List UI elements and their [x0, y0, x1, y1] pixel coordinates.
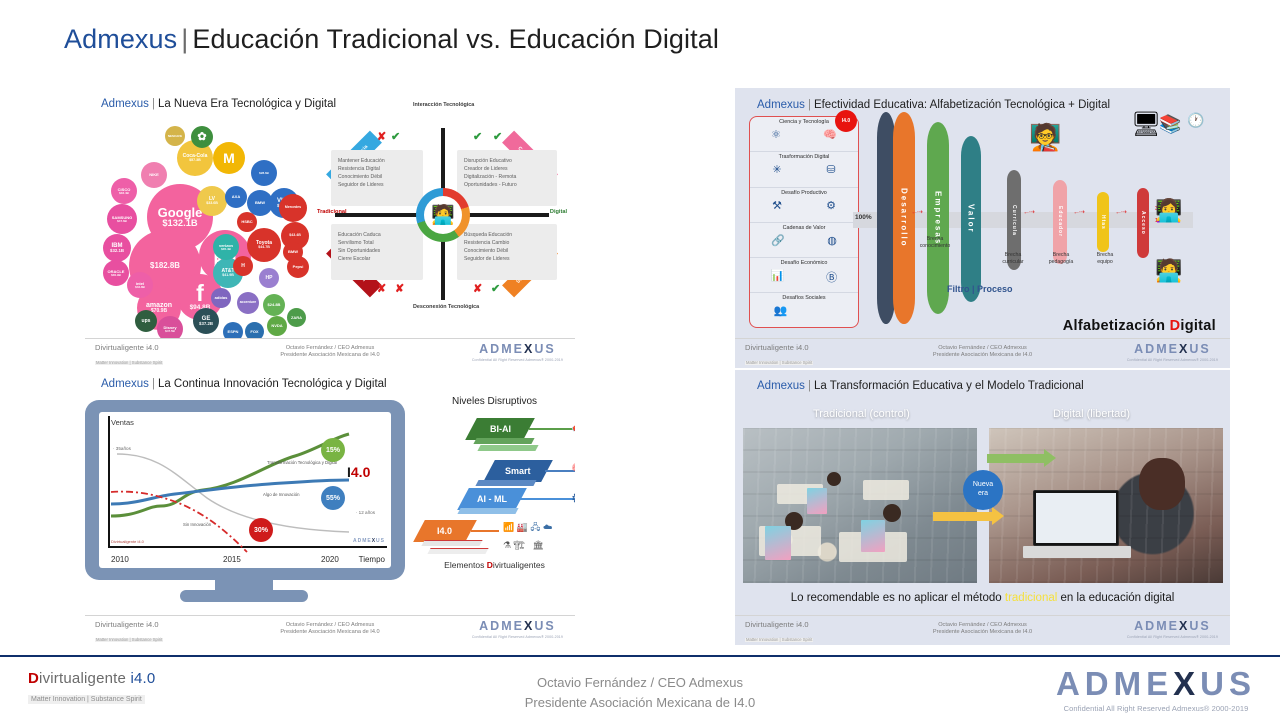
panel1-footer-dv-sub: Matter Innovation | Substance Spirit: [95, 361, 163, 365]
brand-bubble-cloud: Google$132.1B$182.8B▦$104.9Bf$94.8Bamazo…: [101, 126, 323, 341]
brand-bubble: NVDA: [267, 316, 287, 336]
brand-bubble: LV$33.6B: [197, 186, 227, 216]
panel2-footer-admexus-word: ADMEXUS: [472, 620, 563, 633]
brand-bubble: ZARA: [287, 308, 306, 327]
panel1-footer: Divirtualigente i4.0 Matter Innovation |…: [85, 338, 575, 368]
panel-efectividad-educativa[interactable]: Admexus|Efectividad Educativa: Alfabetiz…: [735, 88, 1230, 368]
iot-icons: 📶 🏭 🖧 ☁: [503, 520, 552, 536]
level-i40[interactable]: I4.0: [413, 520, 477, 542]
level-i40-shadow2: [427, 548, 488, 554]
gate-acceso[interactable]: Acceso: [1137, 188, 1149, 258]
page-title: Admexus|Educación Tradicional vs. Educac…: [64, 24, 719, 55]
cross-icon-br-1: ✘: [473, 284, 482, 295]
monitor-screen: Ventas · 35años · 12 años Transformación…: [99, 412, 391, 568]
competency-icon: ⛁: [826, 163, 835, 176]
panel4-footer-divirtualigente: Divirtualigente i4.0 Matter Innovation |…: [745, 621, 813, 645]
panel1-footer-center: Octavio Fernández / CEO Admexus Presiden…: [280, 345, 379, 359]
footer-center-line1: Octavio Fernández / CEO Admexus: [525, 673, 756, 693]
competency-label: Desafío Productivo: [750, 190, 858, 196]
student-seated-icon-1: 👩‍💻: [1155, 198, 1182, 224]
gap-equipo: Brecha equipo: [1079, 252, 1131, 266]
competency-icons: 👥: [750, 304, 858, 317]
level-bi-ai-connector: [529, 428, 575, 430]
competency-icon: ⚒: [772, 199, 782, 212]
funnel-valor[interactable]: Valor: [961, 136, 981, 302]
panel1-footer-line2: Presidente Asociación Mexicana de I4.0: [280, 352, 379, 359]
panel4-footer-admexus: ADMEXUS Confidential All Right Reserved …: [1127, 620, 1218, 639]
competency-label: Cadenas de Valor: [750, 225, 858, 231]
competency-icons: ✳⛁: [750, 163, 858, 176]
panel1-title: La Nueva Era Tecnológica y Digital: [158, 98, 336, 110]
book-2: [861, 520, 885, 552]
panel3-footer-admexus: ADMEXUS Confidential All Right Reserved …: [1127, 343, 1218, 362]
competency-label: Desafíos Sociales: [750, 295, 858, 301]
brand-bubble: NESCAFE: [165, 126, 185, 146]
ai-head-icon: 🧠: [571, 460, 575, 477]
panel3-footer-center: Octavio Fernández / CEO Admexus Presiden…: [933, 345, 1032, 359]
nueva-era-line2: era: [978, 490, 988, 499]
competency-icons: 🔗◍: [750, 234, 858, 247]
panel-innovacion-continua[interactable]: Admexus|La Continua Innovación Tecnológi…: [85, 368, 575, 645]
footer-dv-main: Divirtualigente i4.0: [28, 671, 155, 688]
panel2-footer-dv-main: Divirtualigente i4.0: [95, 621, 163, 629]
chart-i40-mark: I4.0: [347, 464, 370, 480]
competency-list-box: Ciencia y Tecnología⚛🧠Trasformación Digi…: [749, 116, 859, 328]
panel3-footer-admexus-word: ADMEXUS: [1127, 343, 1218, 356]
brand-bubble: accenture: [237, 292, 259, 314]
footer-copyright: Confidential All Right Reserved Admexus®…: [1056, 704, 1256, 713]
column-label-tradicional: Tradicional (control): [813, 408, 910, 420]
clock-icon: 🕐: [1187, 112, 1204, 129]
quadrant-matrix: Interacción Tecnológica Desconexión Tecn…: [317, 102, 567, 324]
competency-row[interactable]: Desafío Productivo⚒⚙: [750, 188, 858, 223]
panel4-footer: Divirtualigente i4.0 Matter Innovation |…: [735, 615, 1230, 645]
competency-icon: Ⓑ: [826, 269, 837, 285]
footer-admexus-logo: ADMEXUS Confidential All Right Reserved …: [1056, 667, 1256, 713]
student-seated-icon-2: 🧑‍💻: [1155, 258, 1182, 284]
flow-arrow-4: ←⇢: [1115, 208, 1126, 216]
panel4-footer-dv-main: Divirtualigente i4.0: [745, 621, 813, 629]
student-head-3: [827, 472, 841, 486]
competency-icon: 🧠: [823, 128, 837, 141]
chart-x-label: Tiempo: [359, 555, 385, 564]
laptop-display: [1036, 493, 1116, 543]
competency-icon: ⚙: [826, 199, 836, 212]
panel-transformacion-educativa[interactable]: Admexus|La Transformación Educativa y el…: [735, 370, 1230, 645]
footer-center-line2: Presidente Asociación Mexicana de I4.0: [525, 693, 756, 713]
nueva-era-line1: Nueva: [973, 481, 993, 490]
brand-bubble: NIKE: [141, 162, 167, 188]
brand-bubble: ups: [135, 310, 157, 332]
panel1-header: Admexus|La Nueva Era Tecnológica y Digit…: [101, 98, 336, 110]
competency-row[interactable]: Desafíos Sociales👥: [750, 293, 858, 328]
matrix-quadrant-bottom-right: Búsqueda Educación Resistencia Cambio Co…: [457, 224, 557, 280]
panel3-footer: Divirtualigente i4.0 Matter Innovation |…: [735, 338, 1230, 368]
teacher-icon: 🧑‍🏫: [1029, 122, 1061, 153]
chart-badge-red: 30%: [249, 518, 273, 542]
panel1-footer-divirtualigente: Divirtualigente i4.0 Matter Innovation |…: [95, 344, 163, 368]
brand-bubble: HP: [259, 268, 279, 288]
matrix-quadrant-top-left: Mantener Educación Resistencia Digital C…: [331, 150, 423, 206]
book-1: [765, 526, 791, 560]
footer-adm-1: ADME: [1056, 665, 1173, 702]
brand-bubble: CISCO$32.4B: [111, 178, 137, 204]
brand-bubble: HSBC: [237, 212, 257, 232]
competency-icons: 📊Ⓑ: [750, 269, 858, 285]
footer-adm-2: US: [1200, 665, 1256, 702]
elearning-desk-icon: 🖥: [1131, 110, 1161, 139]
panel4-footer-admexus-word: ADMEXUS: [1127, 620, 1218, 633]
brand-bubble: adidas: [211, 288, 231, 308]
panel1-sep: |: [149, 98, 158, 110]
student-hair: [1139, 458, 1185, 510]
level-smart-shadow: [475, 480, 536, 486]
panel3-title: Efectividad Educativa: Alfabetización Te…: [814, 99, 1110, 111]
gap-conocimiento: Brecha conocimiento: [903, 236, 967, 250]
check-icon-br-2: ✔: [491, 284, 500, 295]
competency-icon: ⚛: [771, 128, 781, 141]
brand-bubble: verizon$35.4B: [213, 234, 239, 260]
alfabetizacion-digital-label: Alfabetización Digital: [1063, 318, 1216, 334]
laptop-screen: [1033, 490, 1119, 546]
caption-post: en la educación digital: [1057, 592, 1174, 604]
cross-icon-tl-1: ✘: [377, 132, 386, 143]
footer-divirtualigente-logo: Divirtualigente i4.0 Matter Innovation |…: [28, 671, 155, 705]
matrix-axis-bottom-label: Desconexión Tecnológica: [413, 304, 473, 311]
caption-highlight: tradicional: [1005, 592, 1057, 604]
panel3-footer-line1: Octavio Fernández / CEO Admexus: [933, 345, 1032, 352]
chart-xtick-0: 2010: [111, 555, 129, 564]
panel-nueva-era[interactable]: Admexus|La Nueva Era Tecnológica y Digit…: [85, 88, 575, 368]
competency-label: Trasformación Digital: [750, 154, 858, 160]
panel2-header: Admexus|La Continua Innovación Tecnológi…: [101, 378, 387, 390]
panel1-footer-admexus-word: ADMEXUS: [472, 343, 563, 356]
flow-arrow-2: ←⇢: [1023, 208, 1034, 216]
panel2-footer-divirtualigente: Divirtualigente i4.0 Matter Innovation |…: [95, 621, 163, 645]
caption-pre: Lo recomendable es no aplicar el método: [791, 592, 1005, 604]
factory-icons: ⚗ 🏗 🏛: [503, 540, 544, 551]
flow-arrow-3: ←⇢: [1073, 208, 1084, 216]
brand-bubble: SAMSUNG$47.6B: [107, 204, 137, 234]
chart-badge-blue: 55%: [321, 486, 345, 510]
level-ai-ml[interactable]: AI - ML: [457, 488, 527, 510]
desk-4: [863, 480, 909, 500]
panel4-title: La Transformación Educativa y el Modelo …: [814, 380, 1084, 392]
student-head-2: [883, 504, 901, 522]
footer-dv-rest: ivirtualigente: [39, 670, 130, 687]
brand-bubble: GE$37.2B: [193, 308, 219, 334]
panel3-header: Admexus|Efectividad Educativa: Alfabetiz…: [757, 99, 1110, 111]
panel3-footer-line2: Presidente Asociación Mexicana de I4.0: [933, 352, 1032, 359]
books-icon: 📚: [1159, 114, 1181, 135]
panel1-footer-copyright: Confidential All Right Reserved Admexus®…: [472, 358, 563, 362]
nueva-era-badge[interactable]: Nueva era: [963, 470, 1003, 510]
panel3-brand: Admexus: [757, 99, 805, 111]
level-i40-shadow1: [421, 540, 482, 546]
arrow-green: [987, 454, 1045, 463]
check-icon-tl-2: ✔: [391, 132, 400, 143]
percent-input-label: 100%: [855, 214, 872, 221]
panel2-footer-admexus: ADMEXUS Confidential All Right Reserved …: [472, 620, 563, 639]
panel4-footer-dv-sub: Matter Innovation | Substance Spirit: [745, 638, 813, 642]
slide-footer: Divirtualigente i4.0 Matter Innovation |…: [0, 655, 1280, 720]
funnel-empresas[interactable]: Empresas: [927, 122, 949, 314]
brand-bubble: BMW: [283, 242, 303, 262]
chart-divirtualigente-mark: Divirtualigente i4.0: [111, 539, 144, 544]
footer-admexus-word: ADMEXUS: [1056, 667, 1256, 700]
panel4-header: Admexus|La Transformación Educativa y el…: [757, 380, 1084, 392]
competency-row[interactable]: Trasformación Digital✳⛁: [750, 152, 858, 187]
footer-dv-sub: Matter Innovation | Substance Spirit: [28, 695, 145, 705]
panel3-sep: |: [805, 99, 814, 111]
book-3: [807, 488, 827, 514]
competency-icons: ⚒⚙: [750, 199, 858, 212]
chart-curves: [99, 412, 391, 568]
flow-arrow-1: ←⇢: [911, 208, 922, 216]
panel2-footer-center: Octavio Fernández / CEO Admexus Presiden…: [280, 622, 379, 636]
photo-classroom-traditional: [743, 428, 977, 583]
panel2-footer-copyright: Confidential All Right Reserved Admexus®…: [472, 635, 563, 639]
chart-xtick-2: 2020: [321, 555, 339, 564]
gate-htas[interactable]: Htas: [1097, 192, 1109, 252]
page-title-text: Educación Tradicional vs. Educación Digi…: [192, 24, 719, 54]
competency-row[interactable]: Cadenas de Valor🔗◍: [750, 223, 858, 258]
competency-icon: 👥: [774, 304, 788, 317]
brand-bubble: H: [233, 256, 253, 276]
competency-icon: ✳: [772, 163, 781, 176]
funnel-desarrollo[interactable]: Desarrollo: [893, 112, 915, 324]
panel4-footer-copyright: Confidential All Right Reserved Admexus®…: [1127, 635, 1218, 639]
level-i40-connector: [471, 530, 499, 532]
competency-icon: ◍: [827, 234, 837, 247]
level-ai-ml-connector: [519, 498, 575, 500]
matrix-quadrant-top-right: Disrupción Educativo Creador de Lideres …: [457, 150, 557, 206]
panel4-brand: Admexus: [757, 380, 805, 392]
footer-adm-x: X: [1173, 665, 1200, 702]
footer-dv-i4: i4.0: [130, 670, 155, 687]
panel2-footer-line2: Presidente Asociación Mexicana de I4.0: [280, 629, 379, 636]
page-title-brand: Admexus: [64, 24, 177, 54]
chart-label-red: Sin Innovación: [183, 522, 211, 528]
competency-row[interactable]: Desafío Económico📊Ⓑ: [750, 258, 858, 293]
panel1-footer-dv-main: Divirtualigente i4.0: [95, 344, 163, 352]
competency-label: Desafío Económico: [750, 260, 858, 266]
levels-title: Niveles Disruptivos: [417, 396, 572, 407]
i40-red-badge: I4.0: [835, 110, 857, 132]
competency-icon: 📊: [771, 269, 785, 285]
panel4-footer-line1: Octavio Fernández / CEO Admexus: [933, 622, 1032, 629]
laptop-keyboard: [1023, 546, 1131, 558]
cross-icon-bl-1: ✘: [377, 284, 386, 295]
chart-admexus-mark: ADMEXUS: [353, 538, 385, 544]
brand-bubble: Toyota$44.7B: [247, 228, 281, 262]
matrix-quadrant-bottom-left: Educación Caduca Servilismo Total Sin Op…: [331, 224, 423, 280]
brand-bubble: $28.6B: [251, 160, 277, 186]
brand-bubble: M: [213, 142, 245, 174]
panel1-footer-line1: Octavio Fernández / CEO Admexus: [280, 345, 379, 352]
check-icon-tr-1: ✔: [473, 132, 482, 143]
panel2-footer-line1: Octavio Fernández / CEO Admexus: [280, 622, 379, 629]
brand-bubble: intel$34.8B: [127, 272, 153, 298]
monitor-base: [180, 590, 308, 602]
brand-bubble: IBM$32.1B: [103, 234, 131, 262]
monitor-frame: Ventas · 35años · 12 años Transformación…: [85, 400, 405, 580]
chart-label-blue: Algo de Innovación: [263, 492, 300, 498]
chart-label-green: Transformación Tecnológica y Digital: [267, 460, 337, 466]
check-icon-tr-2: ✔: [493, 132, 502, 143]
level-bi-ai-shadow2: [477, 445, 538, 451]
brand-bubble: $24.8B: [263, 294, 285, 316]
brand-bubble: ✿: [191, 126, 213, 148]
panel2-title: La Continua Innovación Tecnológica y Dig…: [158, 378, 387, 390]
brand-bubble: ORACLE$30.9B: [103, 260, 129, 286]
chart-xtick-1: 2015: [223, 555, 241, 564]
panel3-footer-divirtualigente: Divirtualigente i4.0 Matter Innovation |…: [745, 344, 813, 368]
panel4-sep: |: [805, 380, 814, 392]
chart-badge-green: 15%: [321, 438, 345, 462]
matrix-axis-right-label: Digital: [550, 209, 567, 215]
panel4-caption: Lo recomendable es no aplicar el método …: [735, 592, 1230, 604]
panel3-footer-dv-main: Divirtualigente i4.0: [745, 344, 813, 352]
competency-icon: 🔗: [771, 234, 785, 247]
panel2-footer-dv-sub: Matter Innovation | Substance Spirit: [95, 638, 163, 642]
level-bi-ai-shadow1: [473, 438, 534, 444]
panel2-sep: |: [149, 378, 158, 390]
megaphone-icon: 📣: [571, 418, 575, 435]
panel2-brand: Admexus: [101, 378, 149, 390]
panel4-footer-center: Octavio Fernández / CEO Admexus Presiden…: [933, 622, 1032, 636]
panel2-footer: Divirtualigente i4.0 Matter Innovation |…: [85, 615, 575, 645]
levels-footer: Elementos Divirtualigentes: [417, 560, 572, 570]
panel1-brand: Admexus: [101, 98, 149, 110]
matrix-axis-top-label: Interacción Tecnológica: [413, 102, 473, 109]
gears-icon: ⚙: [571, 490, 575, 507]
brand-bubble: AXA: [225, 186, 247, 208]
filtro-proceso-label: Filtro | Proceso: [947, 284, 1013, 294]
panel3-footer-copyright: Confidential All Right Reserved Admexus®…: [1127, 358, 1218, 362]
person-ring-icon: 🧑‍💻: [416, 188, 470, 242]
level-smart[interactable]: Smart: [483, 460, 553, 482]
footer-dv-d: D: [28, 670, 39, 687]
gap-curricular: Brecha curricular: [987, 252, 1039, 266]
arrow-yellow: [933, 512, 993, 521]
cross-icon-bl-2: ✘: [395, 284, 404, 295]
level-bi-ai[interactable]: BI-AI: [465, 418, 535, 440]
brand-bubble: Mercedes: [279, 194, 307, 222]
footer-center-text: Octavio Fernández / CEO Admexus Presiden…: [525, 673, 756, 712]
page-title-divider: |: [177, 24, 192, 54]
matrix-axis-left-label: Tradicional: [317, 209, 347, 215]
panel3-footer-dv-sub: Matter Innovation | Substance Spirit: [745, 361, 813, 365]
column-label-digital: Digital (libertad): [1053, 408, 1130, 420]
level-ai-ml-shadow: [457, 508, 518, 514]
panel1-footer-admexus: ADMEXUS Confidential All Right Reserved …: [472, 343, 563, 362]
photo-student-digital: [989, 428, 1223, 583]
panel4-footer-line2: Presidente Asociación Mexicana de I4.0: [933, 629, 1032, 636]
